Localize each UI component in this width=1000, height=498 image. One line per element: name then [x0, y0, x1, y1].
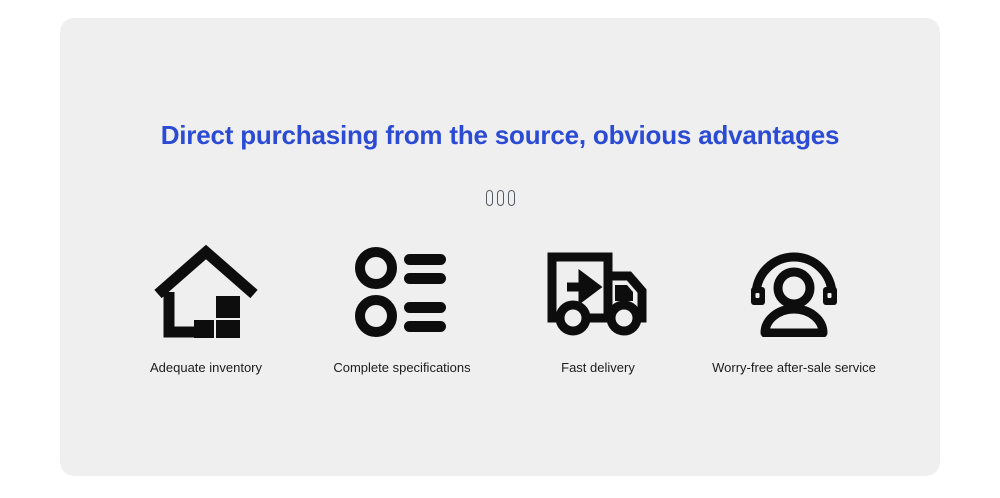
promo-banner: Direct purchasing from the source, obvio… — [0, 0, 1000, 498]
page-title: Direct purchasing from the source, obvio… — [60, 120, 940, 151]
feature-label: Complete specifications — [333, 360, 470, 376]
headset-support-icon — [744, 240, 844, 344]
divider-pill-3 — [508, 190, 515, 206]
feature-label: Worry-free after-sale service — [712, 360, 876, 376]
feature-item-support: Worry-free after-sale service — [696, 240, 892, 376]
banner-panel: Direct purchasing from the source, obvio… — [60, 18, 940, 476]
three-pill-divider — [60, 190, 940, 206]
feature-item-delivery: Fast delivery — [500, 240, 696, 376]
feature-item-specifications: Complete specifications — [304, 240, 500, 376]
feature-item-inventory: Adequate inventory — [108, 240, 304, 376]
specifications-list-icon — [352, 240, 452, 344]
divider-pill-1 — [486, 190, 493, 206]
feature-list: Adequate inventory Complete specificatio… — [60, 240, 940, 376]
divider-pill-2 — [497, 190, 504, 206]
feature-label: Adequate inventory — [150, 360, 262, 376]
warehouse-icon — [154, 240, 258, 344]
delivery-truck-icon — [545, 240, 651, 344]
feature-label: Fast delivery — [561, 360, 635, 376]
